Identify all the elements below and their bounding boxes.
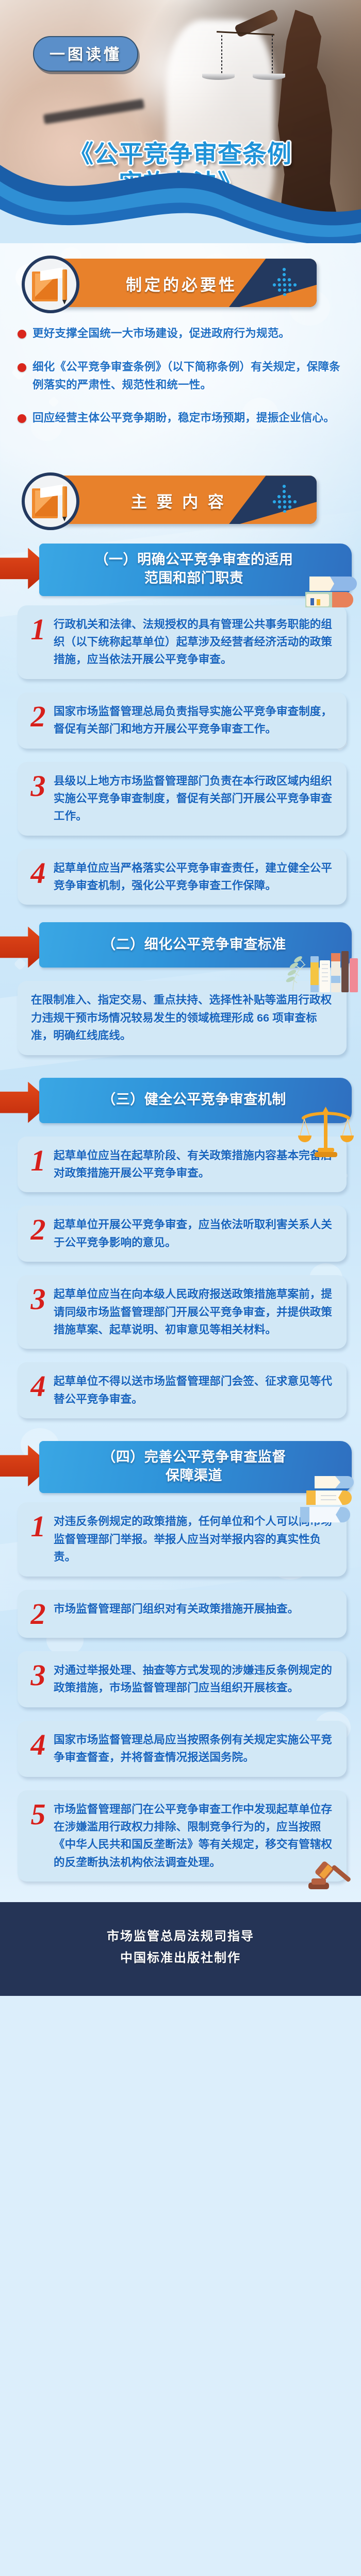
item-text: 对通过举报处理、抽查等方式发现的涉嫌违反条例规定的政策措施，市场监督管理部门应当…	[54, 1662, 335, 1697]
item-number: 3	[28, 1662, 48, 1689]
subsection-2-cards: 在限制准入、指定交易、重点扶持、选择性补贴等滥用行政权力违规干预市场情况较易发生…	[0, 981, 361, 1055]
necessity-book-badge	[22, 256, 79, 313]
subsection-4-title-line1: （四）完善公平竞争审查监督	[102, 1449, 286, 1465]
list-item: 3 起草单位应当在向本级人民政府报送政策措施草案前，提请同级市场监督管理部门开展…	[18, 1275, 347, 1349]
down-arrow-dots-icon	[270, 484, 298, 513]
subsection-1-cards: 1 行政机关和法律、法规授权的具有管理公共事务职能的组织（以下统称起草单位）起草…	[0, 605, 361, 905]
list-item: 在限制准入、指定交易、重点扶持、选择性补贴等滥用行政权力违规干预市场情况较易发生…	[18, 981, 347, 1055]
infographic-poster: 一图读懂 《公平竞争审查条例 实施办法》	[0, 0, 361, 1996]
list-item: 3 对通过举报处理、抽查等方式发现的涉嫌违反条例规定的政策措施，市场监督管理部门…	[18, 1651, 347, 1707]
subsection-4-cards: 1 对违反条例规定的政策措施，任何单位和个人可以向市场监督管理部门举报。举报人应…	[0, 1502, 361, 1882]
list-item: 5 市场监督管理部门在公平竞争审查工作中发现起草单位存在涉嫌滥用行政权力排除、限…	[18, 1790, 347, 1882]
main-content-heading-label: 主 要 内 容	[131, 489, 226, 512]
item-number: 3	[28, 772, 48, 800]
subsection-1-title-line2: 范围和部门职责	[144, 570, 244, 586]
content-background: 制定的必要性	[0, 243, 361, 1902]
necessity-heading-label: 制定的必要性	[126, 272, 237, 295]
main-content-pill: 主 要 内 容	[48, 476, 317, 524]
bullet-text: 更好支撑全国统一大市场建设，促进政府行为规范。	[32, 325, 290, 343]
bullet-text: 细化《公平竞争审查条例》（以下简称条例）有关规定，保障条例落实的严肃性、规范性和…	[32, 358, 346, 394]
subsection-header-4: （四）完善公平竞争审查监督 保障渠道	[0, 1441, 361, 1493]
subsection-header-3: （三）健全公平竞争审查机制	[0, 1078, 361, 1127]
necessity-pill: 制定的必要性	[48, 259, 317, 307]
subsection-3-bar: （三）健全公平竞争审查机制	[39, 1078, 352, 1123]
scales-chain-left-icon	[221, 35, 222, 74]
item-number: 3	[28, 1285, 48, 1313]
subsection-1-title-line1: （一）明确公平竞争审查的适用	[95, 552, 293, 567]
subsection-4-title-line2: 保障渠道	[166, 1468, 222, 1483]
list-item: 1 对违反条例规定的政策措施，任何单位和个人可以向市场监督管理部门举报。举报人应…	[18, 1502, 347, 1576]
list-item: 2 国家市场监督管理总局负责指导实施公平竞争审查制度，督促有关部门和地方开展公平…	[18, 692, 347, 749]
item-text: 对违反条例规定的政策措施，任何单位和个人可以向市场监督管理部门举报。举报人应当对…	[54, 1513, 335, 1566]
list-item: 1 起草单位应当在起草阶段、有关政策措施内容基本完备后对政策措施开展公平竞争审查…	[18, 1137, 347, 1193]
list-item: 细化《公平竞争审查条例》（以下简称条例）有关规定，保障条例落实的严肃性、规范性和…	[18, 358, 346, 394]
list-item: 2 市场监督管理部门组织对有关政策措施开展抽查。	[18, 1590, 347, 1638]
subsection-2-title: （二）细化公平竞争审查标准	[102, 936, 286, 954]
item-number: 2	[28, 703, 48, 730]
subsection-3-title: （三）健全公平竞争审查机制	[102, 1091, 286, 1109]
item-text: 起草单位开展公平竞争审查，应当依法听取利害关系人关于公平竞争影响的意见。	[54, 1216, 335, 1251]
main-content-book-badge	[22, 472, 79, 530]
one-image-badge: 一图读懂	[33, 36, 138, 72]
item-text: 国家市场监督管理总局应当按照条例有关规定实施公平竞争审查督查，并将督查情况报送国…	[54, 1731, 335, 1767]
item-text: 国家市场监督管理总局负责指导实施公平竞争审查制度，督促有关部门和地方开展公平竞争…	[54, 703, 335, 738]
bullet-dot-icon	[18, 363, 26, 372]
footer-credits: 市场监管总局法规司指导 中国标准出版社制作	[0, 1902, 361, 1996]
item-text: 市场监督管理部门组织对有关政策措施开展抽查。	[54, 1600, 299, 1618]
item-text: 起草单位应当严格落实公平竞争审查责任，建立健全公平竞争审查机制，强化公平竞争审查…	[54, 859, 335, 895]
item-number: 5	[28, 1801, 48, 1828]
scales-chain-right-icon	[272, 35, 273, 74]
item-number: 4	[28, 1731, 48, 1758]
item-text: 市场监督管理部门在公平竞争审查工作中发现起草单位存在涉嫌滥用行政权力排除、限制竞…	[54, 1801, 335, 1872]
list-item: 4 起草单位不得以送市场监督管理部门会签、征求意见等代替公平竞争审查。	[18, 1362, 347, 1418]
item-text: 起草单位应当在起草阶段、有关政策措施内容基本完备后对政策措施开展公平竞争审查。	[54, 1147, 335, 1182]
item-text: 起草单位应当在向本级人民政府报送政策措施草案前，提请同级市场监督管理部门开展公平…	[54, 1285, 335, 1338]
subsection-1-bar: （一）明确公平竞争审查的适用 范围和部门职责	[39, 544, 352, 596]
footer-line-2: 中国标准出版社制作	[0, 1947, 361, 1969]
item-text: 在限制准入、指定交易、重点扶持、选择性补贴等滥用行政权力违规干预市场情况较易发生…	[31, 991, 335, 1044]
subsection-4-bar: （四）完善公平竞争审查监督 保障渠道	[39, 1441, 352, 1493]
item-number: 1	[28, 616, 48, 643]
list-item: 回应经营主体公平竞争期盼，稳定市场预期，提振企业信心。	[18, 409, 346, 427]
footer-line-1: 市场监管总局法规司指导	[0, 1926, 361, 1947]
subsection-header-1: （一）明确公平竞争审查的适用 范围和部门职责	[0, 544, 361, 596]
subsection-3-cards: 1 起草单位应当在起草阶段、有关政策措施内容基本完备后对政策措施开展公平竞争审查…	[0, 1137, 361, 1419]
item-text: 行政机关和法律、法规授权的具有管理公共事务职能的组织（以下统称起草单位）起草涉及…	[54, 616, 335, 669]
list-item: 更好支撑全国统一大市场建设，促进政府行为规范。	[18, 325, 346, 343]
list-item: 3 县级以上地方市场监督管理部门负责在本行政区域内组织实施公平竞争审查制度，督促…	[18, 762, 347, 836]
necessity-bullet-list: 更好支撑全国统一大市场建设，促进政府行为规范。 细化《公平竞争审查条例》（以下简…	[0, 317, 361, 446]
item-number: 1	[28, 1147, 48, 1174]
book-pen-icon	[32, 484, 69, 518]
section-header-main-content: 主 要 内 容	[22, 472, 361, 530]
wave-divider	[0, 156, 361, 243]
book-pen-icon	[32, 267, 69, 301]
bullet-dot-icon	[18, 414, 26, 423]
list-item: 2 起草单位开展公平竞争审查，应当依法听取利害关系人关于公平竞争影响的意见。	[18, 1206, 347, 1262]
section-header-necessity: 制定的必要性	[22, 256, 361, 313]
item-text: 起草单位不得以送市场监督管理部门会签、征求意见等代替公平竞争审查。	[54, 1372, 335, 1408]
bullet-text: 回应经营主体公平竞争期盼，稳定市场预期，提振企业信心。	[32, 409, 335, 427]
one-image-badge-label: 一图读懂	[50, 42, 122, 64]
item-number: 2	[28, 1600, 48, 1628]
bullet-dot-icon	[18, 330, 26, 338]
item-number: 1	[28, 1513, 48, 1540]
down-arrow-dots-icon	[270, 267, 298, 296]
item-text: 县级以上地方市场监督管理部门负责在本行政区域内组织实施公平竞争审查制度，督促有关…	[54, 772, 335, 825]
item-number: 2	[28, 1216, 48, 1243]
subsection-2-bar: （二）细化公平竞争审查标准	[39, 922, 352, 968]
list-item: 4 起草单位应当严格落实公平竞争审查责任，建立健全公平竞争审查机制，强化公平竞争…	[18, 849, 347, 905]
list-item: 4 国家市场监督管理总局应当按照条例有关规定实施公平竞争审查督查，并将督查情况报…	[18, 1721, 347, 1777]
subsection-header-2: （二）细化公平竞争审查标准	[0, 922, 361, 972]
gavel-icon	[300, 1856, 354, 1894]
item-number: 4	[28, 859, 48, 887]
list-item: 1 行政机关和法律、法规授权的具有管理公共事务职能的组织（以下统称起草单位）起草…	[18, 605, 347, 679]
item-number: 4	[28, 1372, 48, 1400]
